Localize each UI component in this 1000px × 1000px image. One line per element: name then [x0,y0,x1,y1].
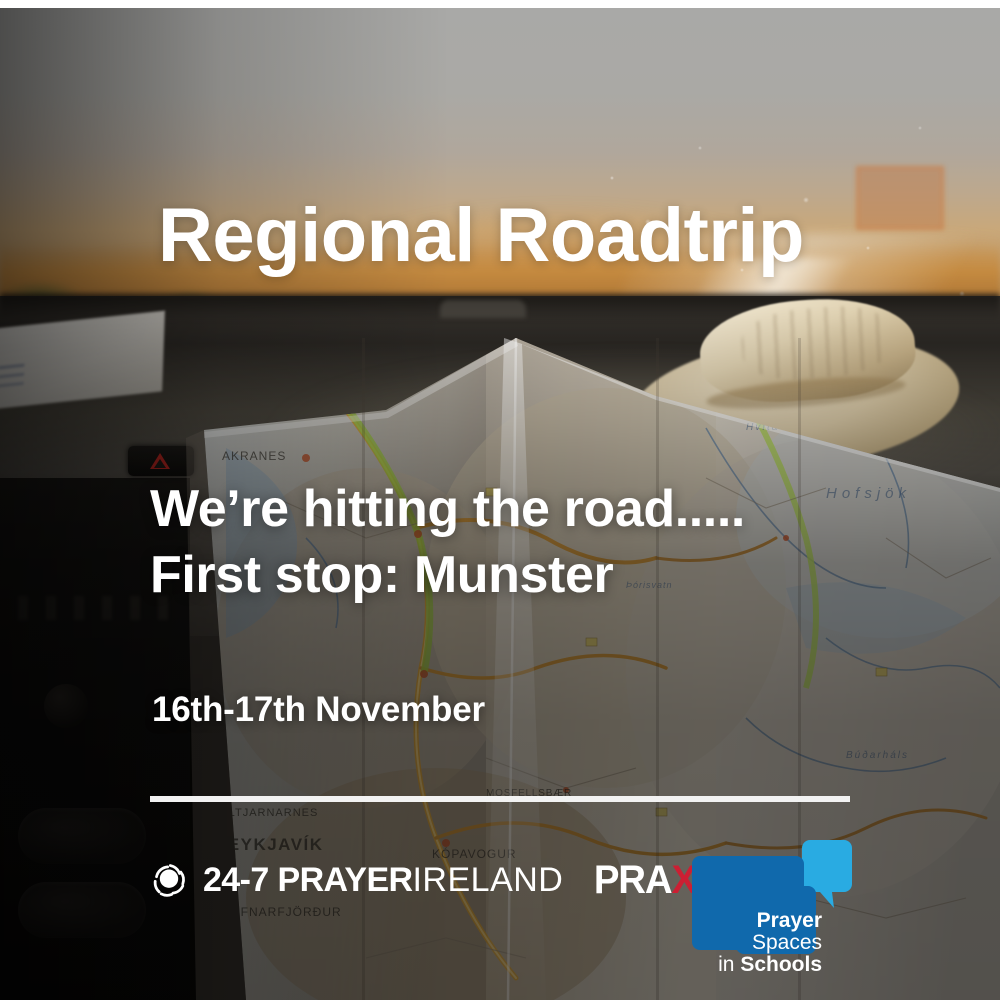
page-title: Regional Roadtrip [158,192,804,279]
pss-prayer: Prayer [757,909,822,932]
pss-line-2: in Schools [690,954,822,976]
prayer-spaces-wordmark: Prayer Spaces in Schools [690,910,822,976]
event-date: 16th-17th November [152,690,485,730]
headline-line-2: First stop: Munster [150,542,745,608]
pss-spaces: Spaces [752,931,822,954]
horizontal-divider [150,796,850,802]
headline-block: We’re hitting the road..... First stop: … [150,476,745,608]
logo-24-7-wordmark: 24-7 PRAYERIRELAND [203,863,563,897]
wordmark-bold: 24-7 PRAYER [203,861,412,899]
logo-prayer-spaces-in-schools: Prayer Spaces in Schools [690,838,852,966]
logo-row: 24-7 PRAYERIRELAND PRAXIS [148,845,733,915]
pss-line-1: Prayer Spaces [690,910,822,954]
pss-in: in [718,953,734,976]
poster-canvas: AKRANES SELTJARNARNES REYKJAVÍK KÓPAVOGU… [0,0,1000,1000]
poster-content: Regional Roadtrip We’re hitting the road… [0,0,1000,1000]
wordmark-light: IRELAND [412,861,563,899]
praxis-part-1: PRA [594,858,672,902]
24-7-prayer-swirl-icon [148,859,190,901]
headline-line-1: We’re hitting the road..... [150,476,745,542]
pss-schools: Schools [740,953,822,976]
logo-24-7-prayer-ireland: 24-7 PRAYERIRELAND [148,859,563,901]
